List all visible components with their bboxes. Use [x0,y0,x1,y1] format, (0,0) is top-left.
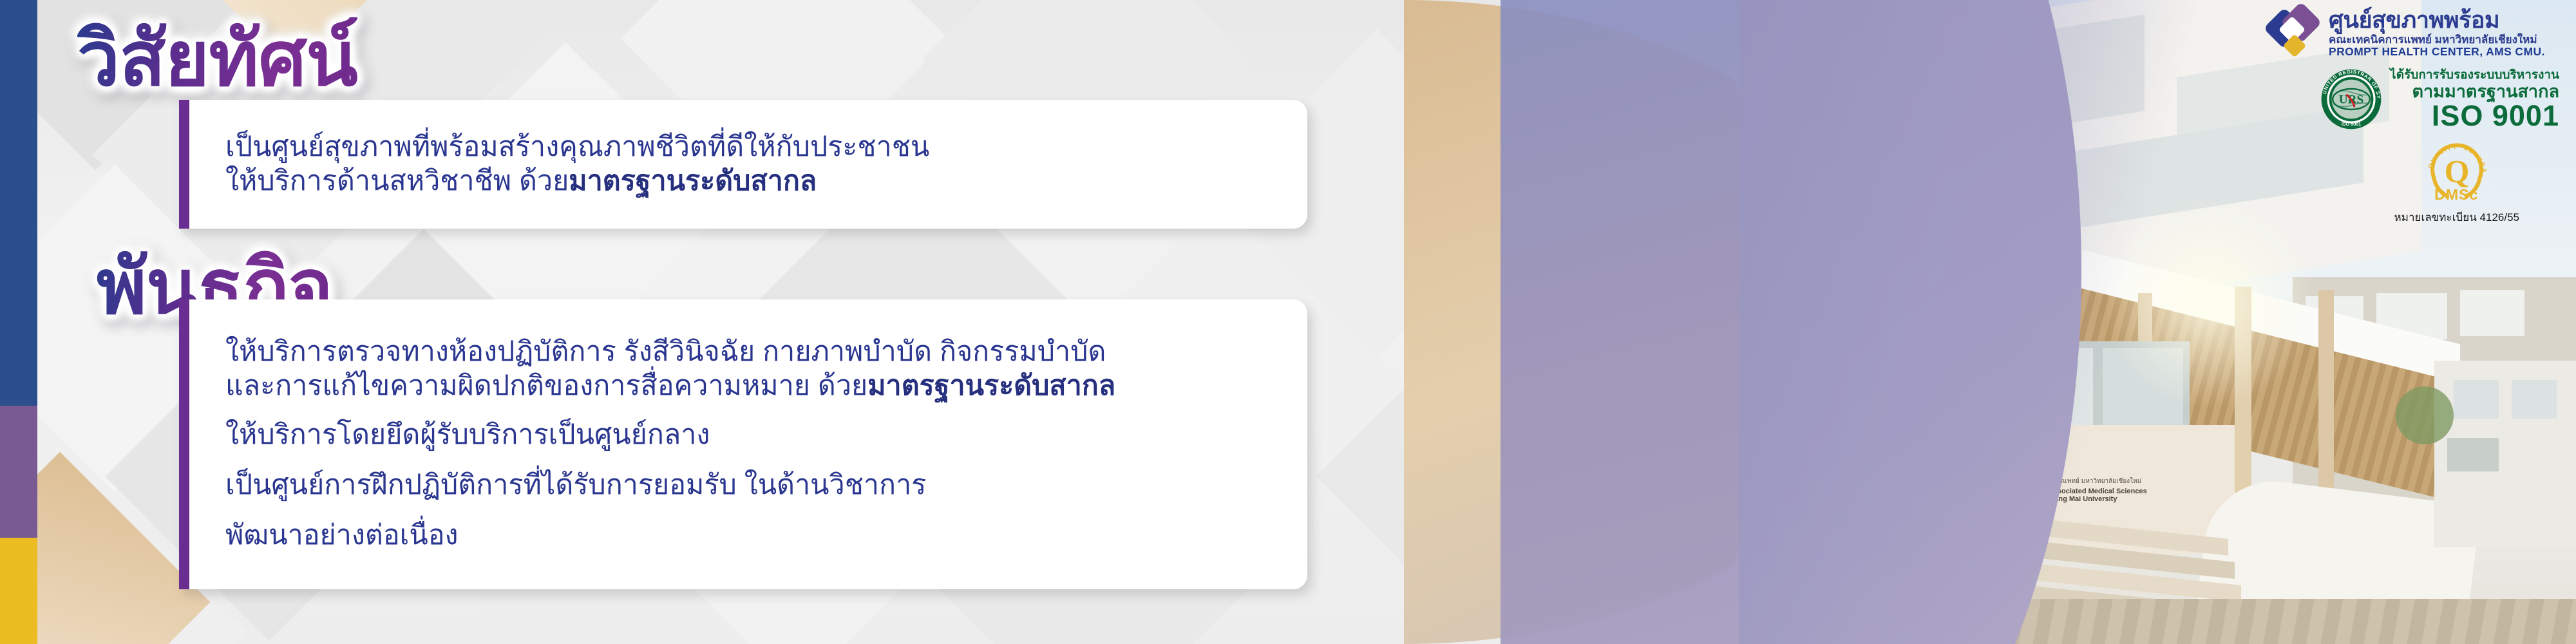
mission-item-1-text: ให้บริการตรวจทางห้องปฏิบัติการ รังสีวินิ… [225,336,1106,367]
mission-item-4: เป็นศูนย์การฝึกปฏิบัติการที่ได้รับการยอม… [225,468,1291,504]
mission-item-2-bold: มาตรฐานระดับสากล [867,370,1115,401]
edge-bar-blue [0,0,37,406]
mission-item-2-text: และการแก้ไขความผิดปกติของการสื่อความหมาย… [225,370,867,401]
logo-faculty-th: คณะเทคนิคการแพทย์ มหาวิทยาลัยเชียงใหม่ [2329,34,2545,45]
mission-item-4-text: เป็นศูนย์การฝึกปฏิบัติการที่ได้รับการยอม… [225,469,926,500]
mission-item-2: และการแก้ไขความผิดปกติของการสื่อความหมาย… [225,369,1291,403]
svg-text:DMSc: DMSc [2434,186,2478,203]
prompt-logo-mark-icon [2269,8,2320,58]
logo-name-en: PROMPT HEALTH CENTER, AMS CMU. [2329,46,2545,58]
vision-line-1-text: เป็นศูนย์สุขภาพที่พร้อมสร้างคุณภาพชีวิตท… [225,131,929,162]
banner-root: ศูนย์สุขภาพพร้อม PROMPT HEALTH CENTER คณ… [0,0,2576,644]
dmsc-certification: QUALITY ASSURANCE Q DMSc หมายเลขทะเบียน … [2394,135,2519,226]
vision-line-1: เป็นศูนย์สุขภาพที่พร้อมสร้างคุณภาพชีวิตท… [225,130,1291,164]
dmsc-registration-number: หมายเลขทะเบียน 4126/55 [2394,209,2519,226]
vision-card: เป็นศูนย์สุขภาพที่พร้อมสร้างคุณภาพชีวิตท… [179,100,1307,229]
iso-line-2: ตามมาตรฐานสากล [2412,83,2559,100]
logo-certification-block: ศูนย์สุขภาพพร้อม คณะเทคนิคการแพทย์ มหาวิ… [2269,8,2559,226]
svg-text:Q: Q [2444,153,2469,189]
vision-line-2-text: ให้บริการด้านสหวิชาชีพ ด้วย [225,166,569,196]
edge-bar-gold [0,538,37,644]
edge-bar-purple [0,406,37,538]
svg-text:ISO 9001: ISO 9001 [2342,121,2361,127]
mission-item-5-text: พัฒนาอย่างต่อเนื่อง [225,520,459,551]
vision-card-accent-bar [179,100,189,229]
logo-name-th: ศูนย์สุขภาพพร้อม [2329,8,2545,32]
mission-item-5: พัฒนาอย่างต่อเนื่อง [225,518,1291,554]
prompt-health-center-logo: ศูนย์สุขภาพพร้อม คณะเทคนิคการแพทย์ มหาวิ… [2269,8,2559,58]
mission-card-accent-bar [179,299,189,589]
mission-card: ให้บริการตรวจทางห้องปฏิบัติการ รังสีวินิ… [179,299,1307,589]
mission-item-1: ให้บริการตรวจทางห้องปฏิบัติการ รังสีวินิ… [225,335,1291,369]
dmsc-seal-icon: QUALITY ASSURANCE Q DMSc [2421,135,2493,207]
vision-line-2: ให้บริการด้านสหวิชาชีพ ด้วยมาตรฐานระดับส… [225,164,1291,198]
iso-line-1: ได้รับการรับรองระบบบริหารงาน [2390,69,2559,81]
urs-seal-icon: URS UNITED REGISTRAR OF SYSTEMS ISO 9001 [2320,68,2382,130]
vision-line-2-bold: มาตรฐานระดับสากล [569,166,817,196]
mission-item-3: ให้บริการโดยยึดผู้รับบริการเป็นศูนย์กลาง [225,417,1291,453]
iso-line-3: ISO 9001 [2432,101,2559,130]
iso-certification: URS UNITED REGISTRAR OF SYSTEMS ISO 9001… [2269,68,2559,130]
mission-item-3-text: ให้บริการโดยยึดผู้รับบริการเป็นศูนย์กลาง [225,419,710,450]
